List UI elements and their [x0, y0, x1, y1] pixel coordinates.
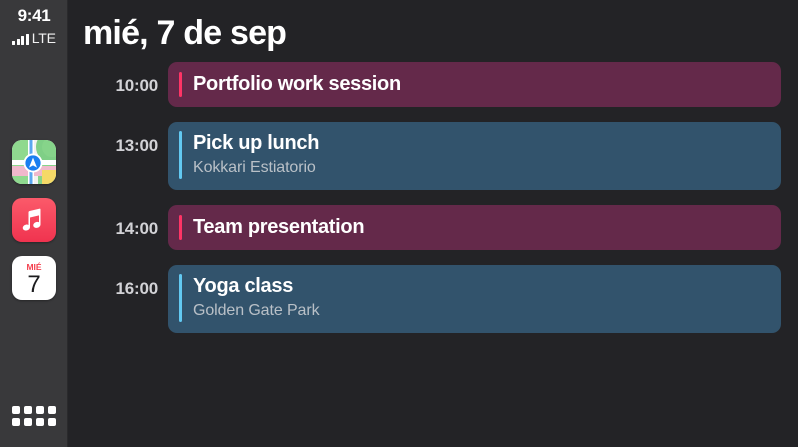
- event-card[interactable]: Yoga class Golden Gate Park: [168, 265, 781, 333]
- carrier-label: LTE: [32, 32, 56, 45]
- event-row[interactable]: 16:00 Yoga class Golden Gate Park: [68, 265, 798, 333]
- status-clock: 9:41: [0, 6, 68, 26]
- event-time: 13:00: [68, 122, 168, 157]
- sidebar: 9:41 LTE: [0, 0, 68, 447]
- event-text: Yoga class Golden Gate Park: [182, 274, 331, 322]
- event-card[interactable]: Portfolio work session: [168, 62, 781, 107]
- event-time: 14:00: [68, 205, 168, 240]
- cellular-bars-icon: [12, 33, 29, 45]
- maps-app-icon[interactable]: [12, 140, 56, 184]
- music-icon-art: [12, 198, 56, 242]
- carplay-calendar-screen: 9:41 LTE: [0, 0, 798, 447]
- music-app-icon[interactable]: [12, 198, 56, 242]
- calendar-icon-art: MIÉ 7: [12, 256, 56, 300]
- page-title: mié, 7 de sep: [83, 12, 286, 54]
- event-row[interactable]: 10:00 Portfolio work session: [68, 62, 798, 107]
- event-row[interactable]: 13:00 Pick up lunch Kokkari Estiatorio: [68, 122, 798, 190]
- event-card[interactable]: Pick up lunch Kokkari Estiatorio: [168, 122, 781, 190]
- event-title: Portfolio work session: [193, 72, 401, 97]
- calendar-app-icon[interactable]: MIÉ 7: [12, 256, 56, 300]
- event-text: Pick up lunch Kokkari Estiatorio: [182, 131, 331, 179]
- app-grid-icon: [12, 406, 56, 426]
- event-title: Yoga class: [193, 274, 319, 299]
- event-subtitle: Kokkari Estiatorio: [193, 157, 319, 179]
- calendar-day-label: 7: [27, 271, 40, 298]
- event-list: 10:00 Portfolio work session 13:00 Pick …: [68, 62, 798, 348]
- status-bar: 9:41 LTE: [0, 6, 68, 45]
- event-title: Pick up lunch: [193, 131, 319, 156]
- event-card[interactable]: Team presentation: [168, 205, 781, 250]
- maps-icon-art: [12, 140, 56, 184]
- event-time: 16:00: [68, 265, 168, 300]
- main-panel: mié, 7 de sep 10:00 Portfolio work sessi…: [68, 0, 798, 447]
- event-time: 10:00: [68, 62, 168, 97]
- status-signal-row: LTE: [0, 29, 68, 45]
- event-title: Team presentation: [193, 215, 364, 240]
- event-row[interactable]: 14:00 Team presentation: [68, 205, 798, 250]
- event-text: Team presentation: [182, 215, 376, 240]
- event-text: Portfolio work session: [182, 72, 413, 97]
- app-grid-button[interactable]: [0, 406, 68, 426]
- event-subtitle: Golden Gate Park: [193, 300, 319, 322]
- sidebar-app-list: MIÉ 7: [0, 140, 68, 314]
